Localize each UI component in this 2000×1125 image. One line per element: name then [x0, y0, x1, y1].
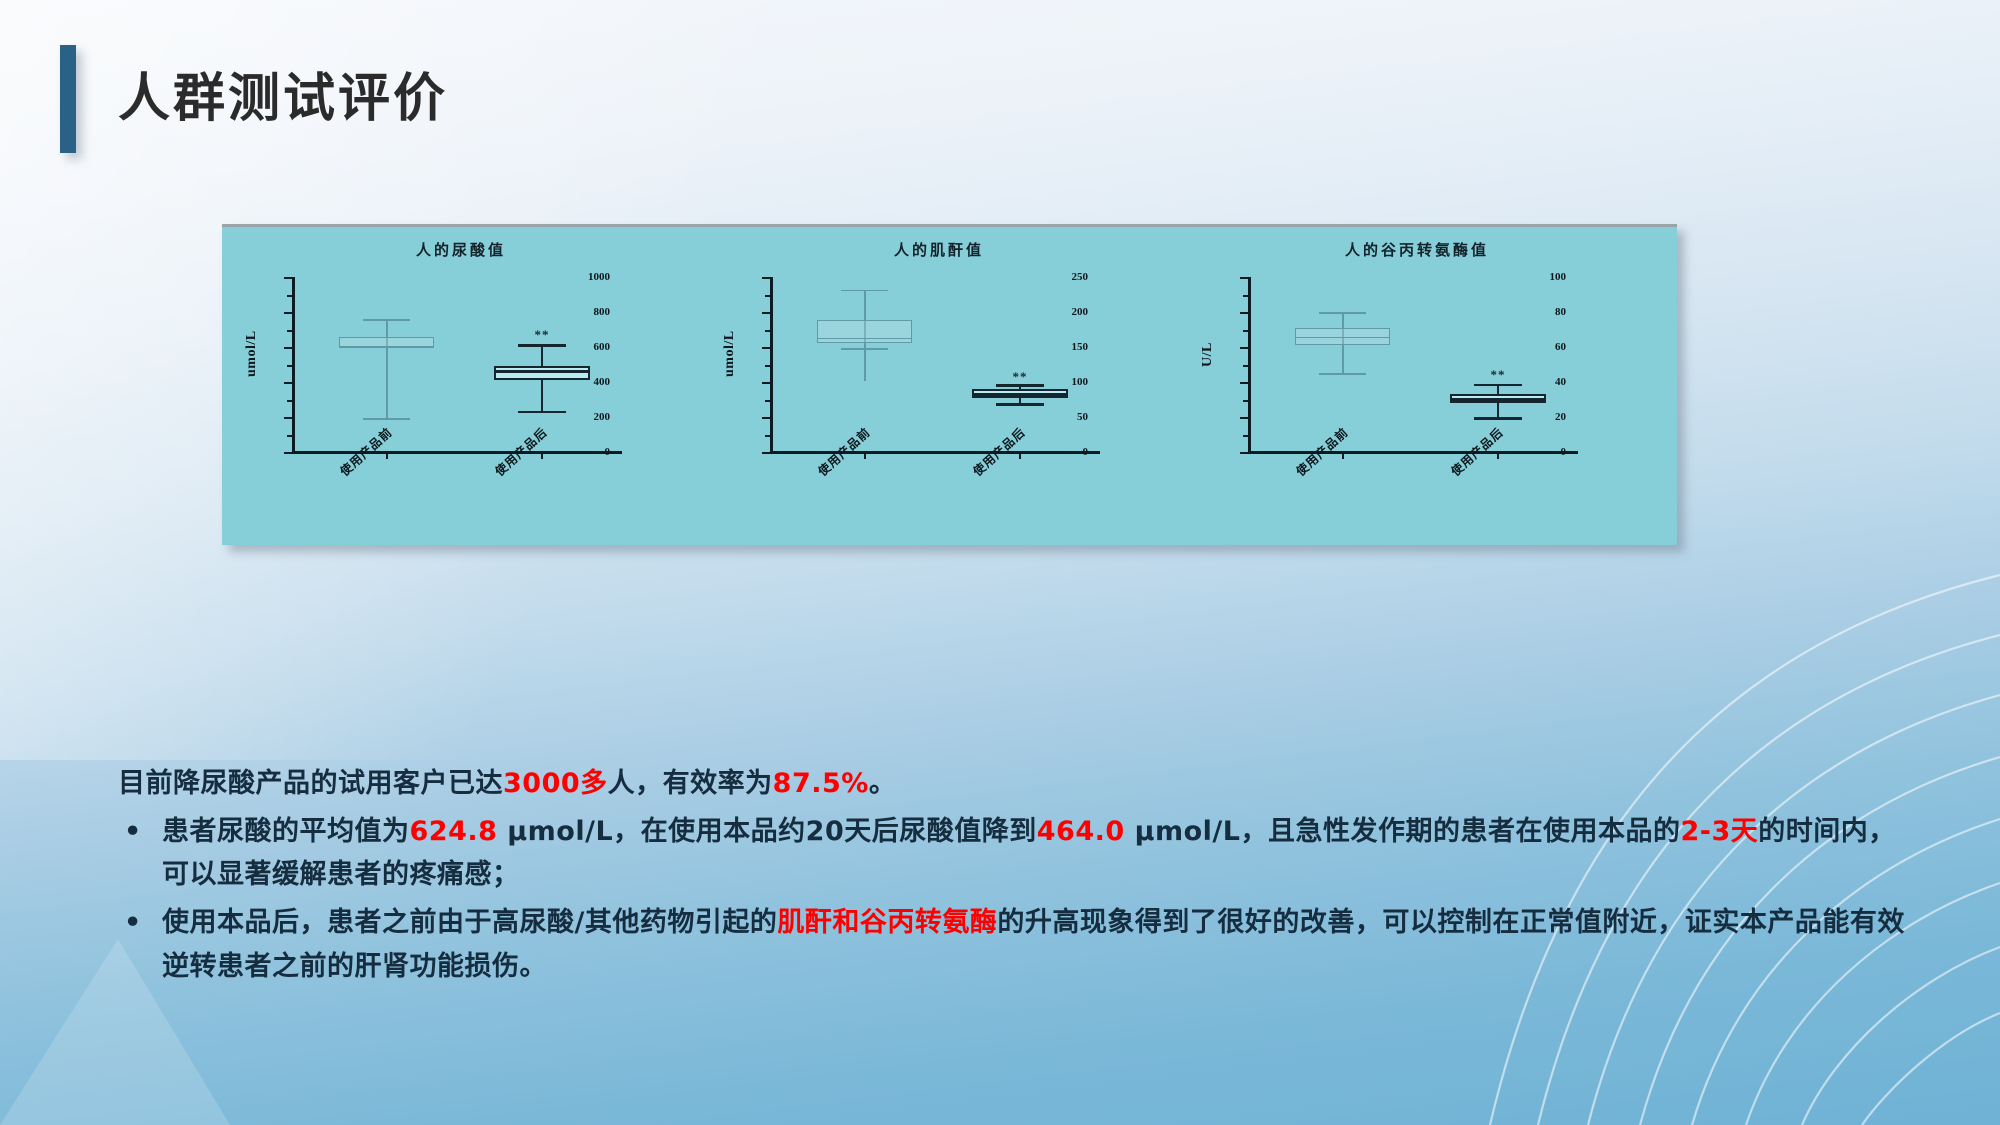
x-tick: [1497, 453, 1499, 459]
whisker-cap-low: [841, 348, 888, 350]
y-tick-label: 0: [1561, 446, 1567, 458]
bullet-0-seg-1: 患者尿酸的平均值为: [162, 816, 410, 847]
median-line: [1295, 337, 1390, 339]
y-tick-label: 0: [605, 446, 611, 458]
y-tick-minor: [287, 435, 292, 437]
y-tick-minor: [765, 400, 770, 402]
bullet-marker: •: [118, 901, 162, 945]
median-line: [1450, 398, 1546, 401]
y-tick-minor: [1243, 365, 1248, 367]
bullet-text: 患者尿酸的平均值为624.8 μmol/L，在使用本品约20天后尿酸值降到464…: [162, 810, 1908, 897]
y-tick: [762, 347, 770, 349]
y-tick-minor: [1243, 295, 1248, 297]
y-tick: [284, 347, 292, 349]
y-tick: [1240, 452, 1248, 454]
x-axis: [770, 451, 1100, 454]
median-line: [972, 393, 1068, 396]
list-item: • 患者尿酸的平均值为624.8 μmol/L，在使用本品约20天后尿酸值降到4…: [118, 810, 1908, 897]
significance-marker: **: [1013, 370, 1028, 383]
median-line: [339, 346, 434, 348]
plot-area: 1000 800 600 400 200 0: [292, 277, 622, 452]
y-tick-label: 20: [1555, 411, 1566, 423]
y-tick-minor: [1243, 400, 1248, 402]
x-tick: [1019, 453, 1021, 459]
median-line: [817, 338, 912, 340]
y-tick-minor: [765, 330, 770, 332]
y-tick: [1240, 382, 1248, 384]
y-tick-label: 200: [1072, 306, 1089, 318]
y-tick: [284, 382, 292, 384]
y-tick-minor: [1243, 435, 1248, 437]
y-tick: [1240, 417, 1248, 419]
y-tick-label: 0: [1083, 446, 1089, 458]
y-tick: [762, 312, 770, 314]
bullet-text: 使用本品后，患者之前由于高尿酸/其他药物引起的肌酐和谷丙转氨酶的升高现象得到了很…: [162, 901, 1908, 988]
y-axis: [770, 277, 773, 452]
y-tick-label: 250: [1072, 271, 1089, 283]
y-tick-minor: [765, 365, 770, 367]
y-tick-minor: [1243, 330, 1248, 332]
y-tick-label: 200: [594, 411, 611, 423]
whisker-cap-low: [1319, 373, 1366, 375]
slide-root: 人群测试评价 人的尿酸值 umol/L 1000 800 600 400: [0, 0, 2000, 1125]
bullet-0-seg-3: μmol/L，且急性发作期的患者在使用本品的: [1125, 816, 1681, 847]
lead-seg-1: 目前降尿酸产品的试用客户已达: [118, 768, 503, 799]
y-tick: [762, 382, 770, 384]
y-axis-label: U/L: [1200, 342, 1216, 367]
y-axis-label: umol/L: [244, 330, 260, 377]
body-text-block: 目前降尿酸产品的试用客户已达3000多人，有效率为87.5%。 • 患者尿酸的平…: [118, 762, 1908, 989]
median-line: [494, 370, 590, 373]
y-tick: [284, 452, 292, 454]
bullet-0-highlight-2: 464.0: [1037, 816, 1125, 847]
chart-panel: 人的尿酸值 umol/L 1000 800 600 400 200: [222, 224, 1677, 545]
list-item: • 使用本品后，患者之前由于高尿酸/其他药物引起的肌酐和谷丙转氨酶的升高现象得到…: [118, 901, 1908, 988]
box-before: [817, 320, 912, 344]
bullet-0-highlight-3: 2-3天: [1680, 816, 1758, 847]
title-accent-bar: [60, 45, 76, 153]
chart-creatinine: 人的肌酐值 umol/L 250 200 150 100 50: [700, 227, 1178, 545]
bullet-1-seg-1: 使用本品后，患者之前由于高尿酸/其他药物引起的: [162, 907, 777, 938]
plot-area: 250 200 150 100 50 0: [770, 277, 1100, 452]
y-tick-minor: [765, 295, 770, 297]
bullet-marker: •: [118, 810, 162, 854]
y-tick-label: 600: [594, 341, 611, 353]
x-tick: [864, 453, 866, 459]
y-tick-minor: [287, 365, 292, 367]
lead-highlight-2: 87.5%: [773, 768, 869, 799]
y-tick-label: 50: [1077, 411, 1088, 423]
whisker-cap-high: [363, 319, 410, 321]
bullet-1-highlight-1: 肌酐和谷丙转氨酶: [777, 907, 997, 938]
y-tick-minor: [287, 400, 292, 402]
plot-area: 100 80 60 40 20 0: [1248, 277, 1578, 452]
y-axis: [1248, 277, 1251, 452]
whisker-cap-high: [1474, 384, 1522, 387]
y-tick: [1240, 277, 1248, 279]
y-tick-minor: [287, 295, 292, 297]
y-tick: [762, 452, 770, 454]
whisker-cap-low: [1474, 417, 1522, 420]
y-tick: [284, 417, 292, 419]
y-axis: [292, 277, 295, 452]
whisker-cap-high: [996, 384, 1044, 387]
y-tick: [1240, 347, 1248, 349]
lead-seg-2: 人，有效率为: [608, 768, 773, 799]
chart-title: 人的谷丙转氨酶值: [1178, 239, 1656, 260]
significance-marker: **: [535, 328, 550, 341]
chart-title: 人的尿酸值: [222, 239, 700, 260]
y-tick-minor: [765, 435, 770, 437]
x-tick: [541, 453, 543, 459]
x-tick: [1342, 453, 1344, 459]
whisker-cap-low: [518, 411, 566, 414]
y-tick-label: 60: [1555, 341, 1566, 353]
y-tick-label: 100: [1072, 376, 1089, 388]
whisker-cap-high: [1319, 312, 1366, 314]
whisker-cap-low: [996, 403, 1044, 406]
lead-highlight-1: 3000多: [503, 768, 608, 799]
bullet-0-seg-2: μmol/L，在使用本品约20天后尿酸值降到: [497, 816, 1036, 847]
page-title: 人群测试评价: [60, 45, 448, 153]
x-axis: [1248, 451, 1578, 454]
box-after: [494, 366, 590, 380]
title-label: 人群测试评价: [118, 73, 448, 125]
y-tick-label: 100: [1550, 271, 1567, 283]
bullet-0-highlight-1: 624.8: [410, 816, 498, 847]
y-axis-label: umol/L: [722, 330, 738, 377]
y-tick-label: 800: [594, 306, 611, 318]
y-tick: [762, 417, 770, 419]
whisker-cap-high: [841, 290, 888, 292]
y-tick-label: 150: [1072, 341, 1089, 353]
chart-title: 人的肌酐值: [700, 239, 1178, 260]
chart-alt: 人的谷丙转氨酶值 U/L 100 80 60 40 20: [1178, 227, 1656, 545]
y-tick-label: 40: [1555, 376, 1566, 388]
y-tick: [1240, 312, 1248, 314]
y-tick-label: 1000: [588, 271, 610, 283]
lead-seg-3: 。: [869, 768, 897, 799]
y-tick: [284, 277, 292, 279]
whisker-cap-low: [363, 418, 410, 420]
x-tick: [386, 453, 388, 459]
significance-marker: **: [1491, 368, 1506, 381]
lead-paragraph: 目前降尿酸产品的试用客户已达3000多人，有效率为87.5%。: [118, 762, 1908, 806]
y-tick-label: 80: [1555, 306, 1566, 318]
whisker-vertical: [386, 319, 388, 419]
y-tick-label: 400: [594, 376, 611, 388]
chart-uric-acid: 人的尿酸值 umol/L 1000 800 600 400 200: [222, 227, 700, 545]
y-tick: [284, 312, 292, 314]
whisker-cap-high: [518, 344, 566, 347]
y-tick: [762, 277, 770, 279]
x-axis: [292, 451, 622, 454]
y-tick-minor: [287, 330, 292, 332]
